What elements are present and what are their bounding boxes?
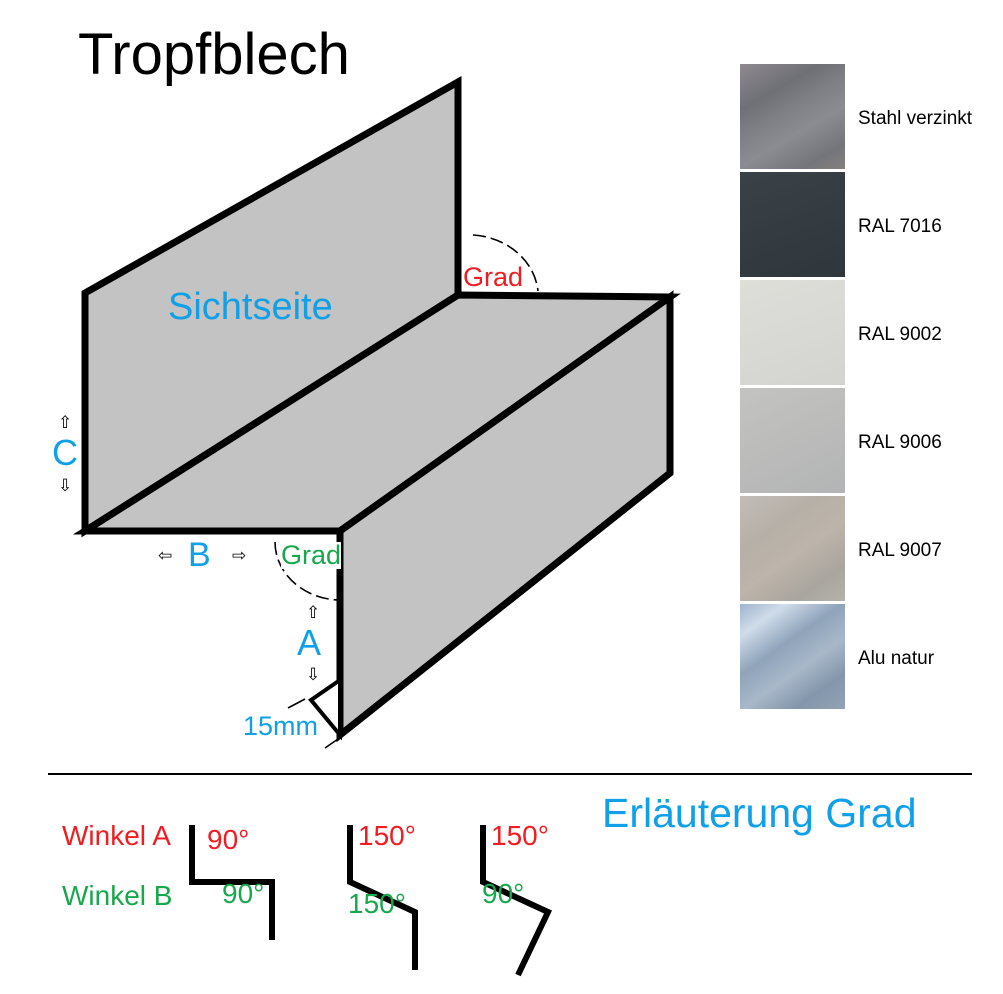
swatch-chip-ral-7016[interactable] — [740, 172, 845, 277]
section-divider — [48, 773, 972, 775]
swatch-label: RAL 9002 — [858, 324, 942, 346]
arrow-down-icon: ⇩ — [58, 478, 72, 495]
panel-flange-a — [340, 297, 670, 735]
swatch-label: Stahl verzinkt — [858, 108, 972, 130]
swatch-chip-ral-9006[interactable] — [740, 388, 845, 493]
label-grad-angle-a: Grad — [463, 264, 523, 291]
drip-leader-upper — [288, 699, 305, 708]
legend-angle-b-value: 90° — [222, 880, 264, 908]
legend-winkel-a-label: Winkel A — [62, 822, 171, 850]
swatch-chip-ral-9002[interactable] — [740, 280, 845, 385]
legend-angle-a-value: 150° — [491, 822, 549, 850]
swatch-label: RAL 7016 — [858, 216, 942, 238]
page-title: Tropfblech — [78, 26, 350, 84]
drawing-page: Tropfblech Sichtseite C B A 15mm Grad Gr… — [0, 0, 1003, 994]
arrow-down-icon: ⇩ — [306, 667, 320, 684]
legend-title: Erläuterung Grad — [602, 793, 917, 834]
swatch-chip-alu-natur[interactable] — [740, 604, 845, 709]
label-drip-edge-15mm: 15mm — [243, 713, 318, 740]
label-grad-angle-b: Grad — [281, 542, 341, 569]
swatch-label: RAL 9006 — [858, 432, 942, 454]
label-sichtseite: Sichtseite — [168, 288, 333, 326]
label-dimension-b: B — [188, 538, 211, 572]
swatch-chip-stahl-verzinkt[interactable] — [740, 64, 845, 169]
swatch-chip-ral-9007[interactable] — [740, 496, 845, 601]
label-dimension-a: A — [297, 625, 321, 661]
fold-line-base — [343, 300, 666, 528]
panel-base-b — [85, 295, 670, 531]
legend-angle-b-value: 150° — [348, 890, 406, 918]
legend-angle-a-value: 150° — [358, 822, 416, 850]
drip-leader-lower — [325, 739, 338, 748]
swatch-label: RAL 9007 — [858, 540, 942, 562]
swatch-label: Alu natur — [858, 648, 934, 670]
legend-angle-a-value: 90° — [207, 826, 249, 854]
arrow-up-icon: ⇧ — [306, 605, 320, 622]
legend-winkel-b-label: Winkel B — [62, 882, 172, 910]
arrow-up-icon: ⇧ — [58, 415, 72, 432]
label-dimension-c: C — [52, 435, 78, 471]
arrow-right-icon: ⇨ — [232, 548, 246, 565]
legend-angle-b-value: 90° — [482, 880, 524, 908]
arrow-left-icon: ⇦ — [158, 548, 172, 565]
